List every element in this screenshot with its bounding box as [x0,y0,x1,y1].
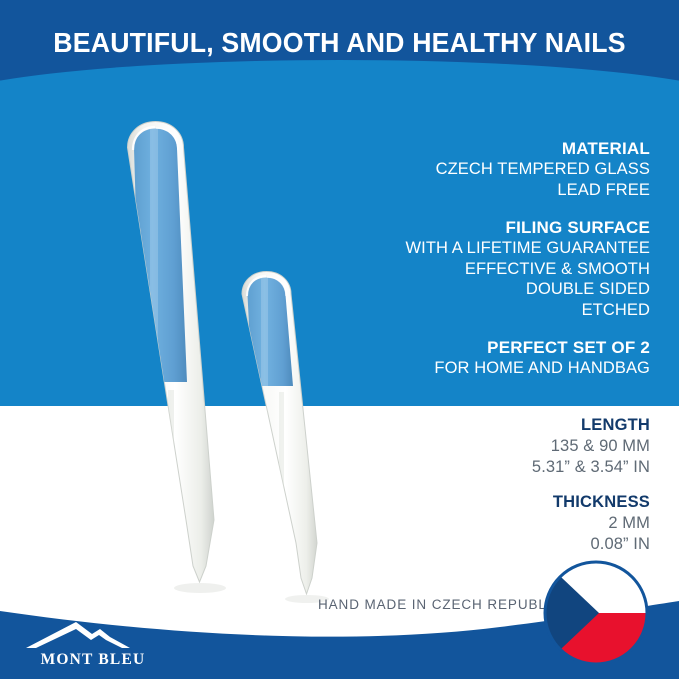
spec-line: 0.08” IN [350,534,650,555]
spec-heading: FILING SURFACE [350,217,650,238]
spec-line: EFFECTIVE & SMOOTH [350,259,650,280]
spec-line: WITH A LIFETIME GUARANTEE [350,238,650,259]
mountain-icon [18,617,168,651]
page-title: BEAUTIFUL, SMOOTH AND HEALTHY NAILS [10,26,669,60]
product-infographic: BEAUTIFUL, SMOOTH AND HEALTHY NAILS [0,0,679,679]
spec-line: CZECH TEMPERED GLASS [350,159,650,180]
spec-group-length: LENGTH 135 & 90 MM 5.31” & 3.54” IN [350,414,650,478]
brand-name: MONT BLEU [18,651,168,669]
brand-logo: MONT BLEU [18,617,168,673]
spec-line: FOR HOME AND HANDBAG [350,358,650,379]
specs-blue: MATERIAL CZECH TEMPERED GLASS LEAD FREE … [350,138,650,379]
spec-line: 135 & 90 MM [350,436,650,457]
spec-heading: LENGTH [350,414,650,436]
spec-line: DOUBLE SIDED [350,279,650,300]
spec-line: LEAD FREE [350,180,650,201]
spec-group-thickness: THICKNESS 2 MM 0.08” IN [350,491,650,555]
spec-line: 2 MM [350,513,650,534]
czech-republic-flag-icon [543,560,649,666]
spec-group-filing-surface: FILING SURFACE WITH A LIFETIME GUARANTEE… [350,217,650,320]
spec-group-material: MATERIAL CZECH TEMPERED GLASS LEAD FREE [350,138,650,200]
specs-white: LENGTH 135 & 90 MM 5.31” & 3.54” IN THIC… [350,414,650,555]
origin-text: HAND MADE IN CZECH REPUBLIC [318,597,562,612]
spec-heading: THICKNESS [350,491,650,513]
spec-heading: PERFECT SET OF 2 [350,337,650,358]
spec-line: 5.31” & 3.54” IN [350,457,650,478]
spec-heading: MATERIAL [350,138,650,159]
spec-group-perfect-set: PERFECT SET OF 2 FOR HOME AND HANDBAG [350,337,650,379]
spec-line: ETCHED [350,300,650,321]
